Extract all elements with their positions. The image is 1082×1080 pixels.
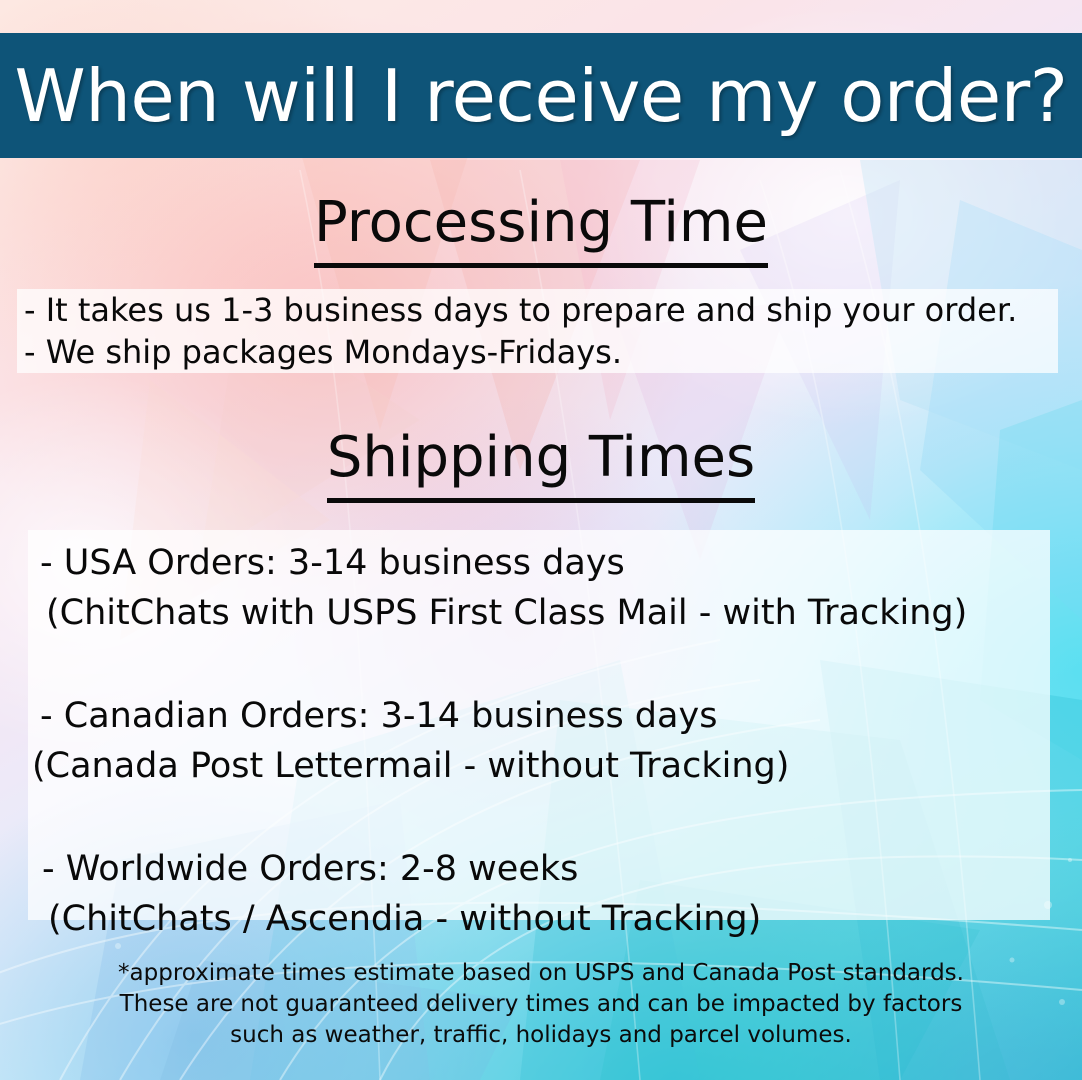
shipping-worldwide-line-2: (ChitChats / Ascendia - without Tracking… bbox=[28, 894, 1050, 944]
shipping-canada-line-2: (Canada Post Lettermail - without Tracki… bbox=[28, 741, 1050, 791]
shipping-group-worldwide: - Worldwide Orders: 2-8 weeks (ChitChats… bbox=[28, 791, 1050, 944]
disclaimer-note: *approximate times estimate based on USP… bbox=[0, 958, 1082, 1051]
shipping-usa-line-1: - USA Orders: 3-14 business days bbox=[28, 538, 1050, 588]
poster-header-band: When will I receive my order? bbox=[0, 33, 1082, 158]
section-heading-processing-time: Processing Time bbox=[0, 195, 1082, 251]
disclaimer-line-3: such as weather, traffic, holidays and p… bbox=[0, 1020, 1082, 1051]
disclaimer-line-2: These are not guaranteed delivery times … bbox=[0, 989, 1082, 1020]
shipping-info-poster: When will I receive my order? Processing… bbox=[0, 0, 1082, 1080]
processing-time-line-2: - We ship packages Mondays-Fridays. bbox=[17, 331, 1058, 373]
shipping-times-panel: - USA Orders: 3-14 business days (ChitCh… bbox=[28, 530, 1050, 920]
section-heading-processing-time-label: Processing Time bbox=[314, 190, 768, 268]
processing-time-panel: - It takes us 1-3 business days to prepa… bbox=[17, 289, 1058, 373]
shipping-worldwide-line-1: - Worldwide Orders: 2-8 weeks bbox=[28, 844, 1050, 894]
shipping-usa-line-2: (ChitChats with USPS First Class Mail - … bbox=[28, 588, 1050, 638]
disclaimer-line-1: *approximate times estimate based on USP… bbox=[0, 958, 1082, 989]
page-title: When will I receive my order? bbox=[15, 60, 1068, 132]
processing-time-line-1: - It takes us 1-3 business days to prepa… bbox=[17, 289, 1058, 331]
section-heading-shipping-times-label: Shipping Times bbox=[327, 425, 755, 503]
shipping-canada-line-1: - Canadian Orders: 3-14 business days bbox=[28, 691, 1050, 741]
shipping-group-usa: - USA Orders: 3-14 business days (ChitCh… bbox=[28, 530, 1050, 638]
section-heading-shipping-times: Shipping Times bbox=[0, 430, 1082, 486]
shipping-group-canada: - Canadian Orders: 3-14 business days (C… bbox=[28, 638, 1050, 791]
